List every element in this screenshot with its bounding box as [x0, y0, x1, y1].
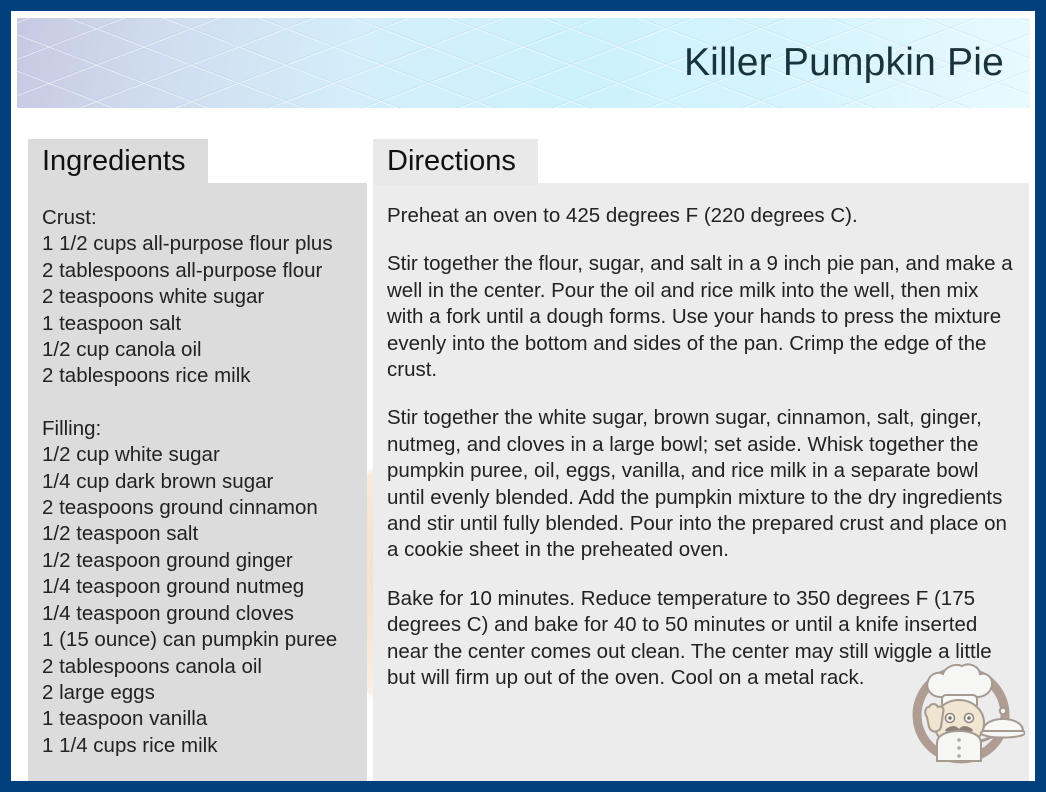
ingredient-group-label: Crust:: [42, 205, 355, 231]
ingredient-item: 1/2 cup canola oil: [42, 337, 355, 363]
ingredient-item: 1/2 teaspoon ground ginger: [42, 548, 355, 574]
ingredient-item: 2 tablespoons all-purpose flour: [42, 258, 355, 284]
recipe-card-page: Killer Pumpkin Pie Ingredients Crust:1 1…: [0, 0, 1046, 792]
directions-text: Preheat an oven to 425 degrees F (220 de…: [373, 183, 1029, 692]
header-banner: Killer Pumpkin Pie: [17, 18, 1030, 108]
ingredient-item: 1 1/4 cups rice milk: [42, 733, 355, 759]
ingredient-item: 2 large eggs: [42, 680, 355, 706]
section-header-directions: Directions: [373, 139, 538, 185]
chef-mascot-logo-icon: [897, 645, 1025, 773]
recipe-card-inner: Killer Pumpkin Pie Ingredients Crust:1 1…: [11, 11, 1035, 781]
section-header-ingredients: Ingredients: [28, 139, 208, 185]
ingredient-group-label: Filling:: [42, 416, 355, 442]
ingredient-item: 1 teaspoon vanilla: [42, 706, 355, 732]
ingredient-item: 1 1/2 cups all-purpose flour plus: [42, 231, 355, 257]
page-title: Killer Pumpkin Pie: [684, 41, 1004, 85]
ingredient-item: 2 tablespoons canola oil: [42, 654, 355, 680]
ingredient-item: 1/4 cup dark brown sugar: [42, 469, 355, 495]
ingredients-list: Crust:1 1/2 cups all-purpose flour plus2…: [28, 183, 367, 759]
direction-paragraph: Preheat an oven to 425 degrees F (220 de…: [387, 203, 1013, 229]
ingredient-item: 1/2 cup white sugar: [42, 442, 355, 468]
ingredient-item: 2 tablespoons rice milk: [42, 363, 355, 389]
ingredient-item: 1 (15 ounce) can pumpkin puree: [42, 627, 355, 653]
direction-paragraph: Stir together the white sugar, brown sug…: [387, 405, 1013, 563]
ingredient-item: 1/4 teaspoon ground cloves: [42, 601, 355, 627]
direction-paragraph: Stir together the flour, sugar, and salt…: [387, 251, 1013, 383]
ingredient-item: 2 teaspoons ground cinnamon: [42, 495, 355, 521]
ingredient-item: 1/2 teaspoon salt: [42, 521, 355, 547]
ingredient-group-spacer: [42, 390, 355, 416]
ingredients-panel: Crust:1 1/2 cups all-purpose flour plus2…: [28, 183, 367, 789]
ingredient-item: 1/4 teaspoon ground nutmeg: [42, 574, 355, 600]
ingredient-item: 2 teaspoons white sugar: [42, 284, 355, 310]
ingredient-item: 1 teaspoon salt: [42, 311, 355, 337]
